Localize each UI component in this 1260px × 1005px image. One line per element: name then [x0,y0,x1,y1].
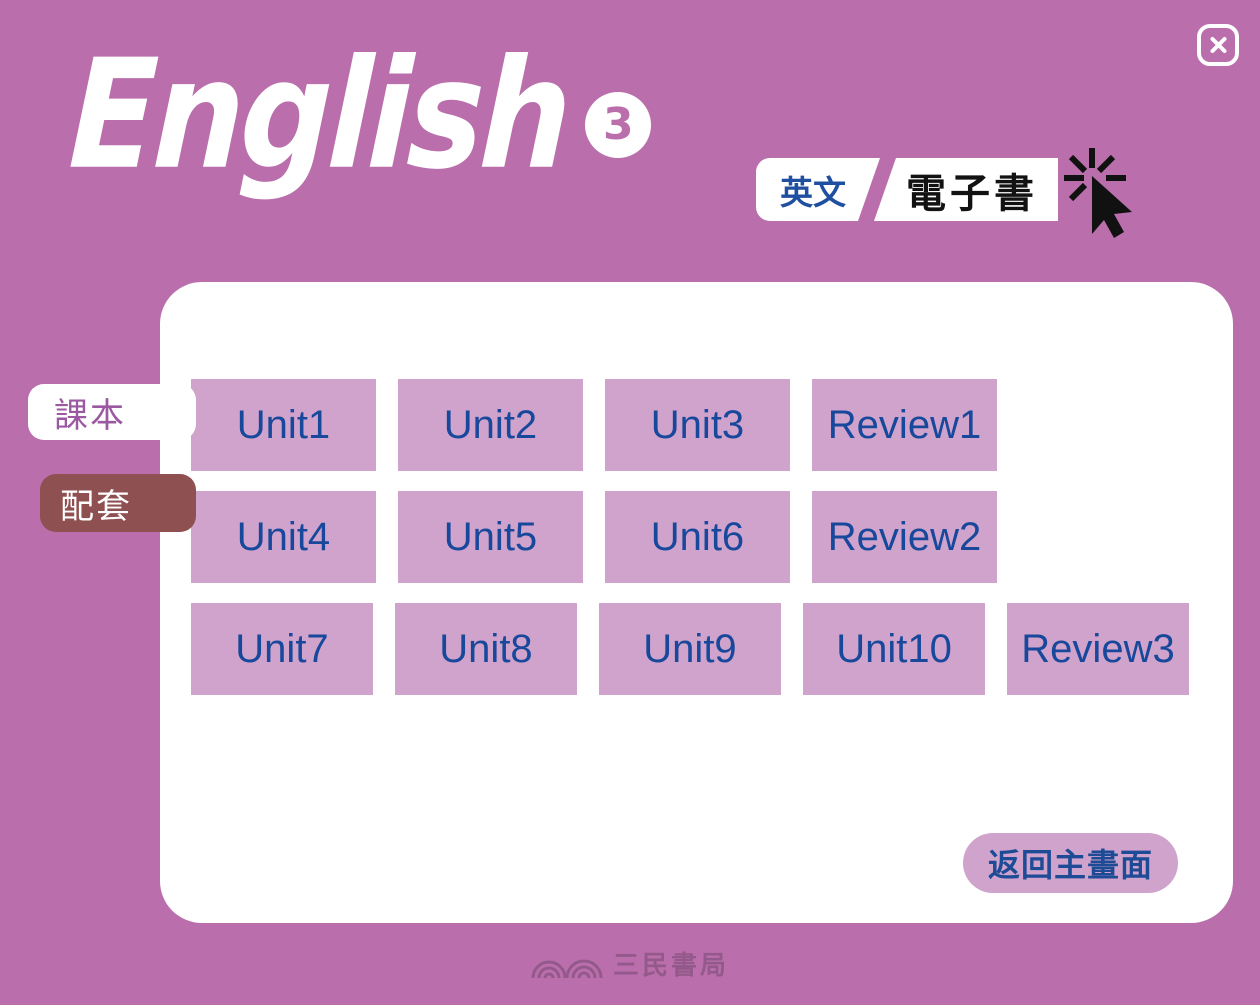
badge-ebook-label[interactable]: 電子書 [874,158,1058,221]
unit-button[interactable]: Unit5 [398,491,583,583]
unit-button[interactable]: Review3 [1007,603,1189,695]
sidebar-tab-supplementary-label: 配套 [60,479,132,528]
rainbow-arc-icon [531,949,603,979]
app-logo: English 3 [70,52,651,180]
unit-button[interactable]: Review2 [812,491,997,583]
sidebar-tab-textbook-label: 課本 [54,388,126,437]
unit-button[interactable]: Unit4 [191,491,376,583]
unit-grid-row: Unit7Unit8Unit9Unit10Review3 [191,603,1211,695]
publisher-logo: 三民書局 [0,945,1260,982]
unit-button[interactable]: Unit9 [599,603,781,695]
unit-button[interactable]: Review1 [812,379,997,471]
unit-button[interactable]: Unit2 [398,379,583,471]
click-cursor-icon [1062,146,1136,238]
header-badge: 英文 電子書 [756,158,1058,221]
sidebar-tab-textbook[interactable]: 課本 [28,384,196,440]
unit-button[interactable]: Unit3 [605,379,790,471]
unit-button[interactable]: Unit6 [605,491,790,583]
logo-volume-number: 3 [585,92,651,158]
return-to-main-label: 返回主畫面 [988,840,1153,886]
publisher-name: 三民書局 [613,945,729,982]
unit-button[interactable]: Unit10 [803,603,985,695]
logo-title: English [67,40,571,191]
unit-button[interactable]: Unit1 [191,379,376,471]
unit-button[interactable]: Unit8 [395,603,577,695]
unit-grid-row: Unit4Unit5Unit6Review2 [191,491,1211,583]
return-to-main-button[interactable]: 返回主畫面 [963,833,1178,893]
close-button[interactable] [1197,24,1239,66]
unit-grid: Unit1Unit2Unit3Review1Unit4Unit5Unit6Rev… [191,379,1211,715]
unit-grid-row: Unit1Unit2Unit3Review1 [191,379,1211,471]
badge-subject-label[interactable]: 英文 [756,158,880,221]
sidebar-tab-supplementary[interactable]: 配套 [40,474,196,532]
unit-button[interactable]: Unit7 [191,603,373,695]
